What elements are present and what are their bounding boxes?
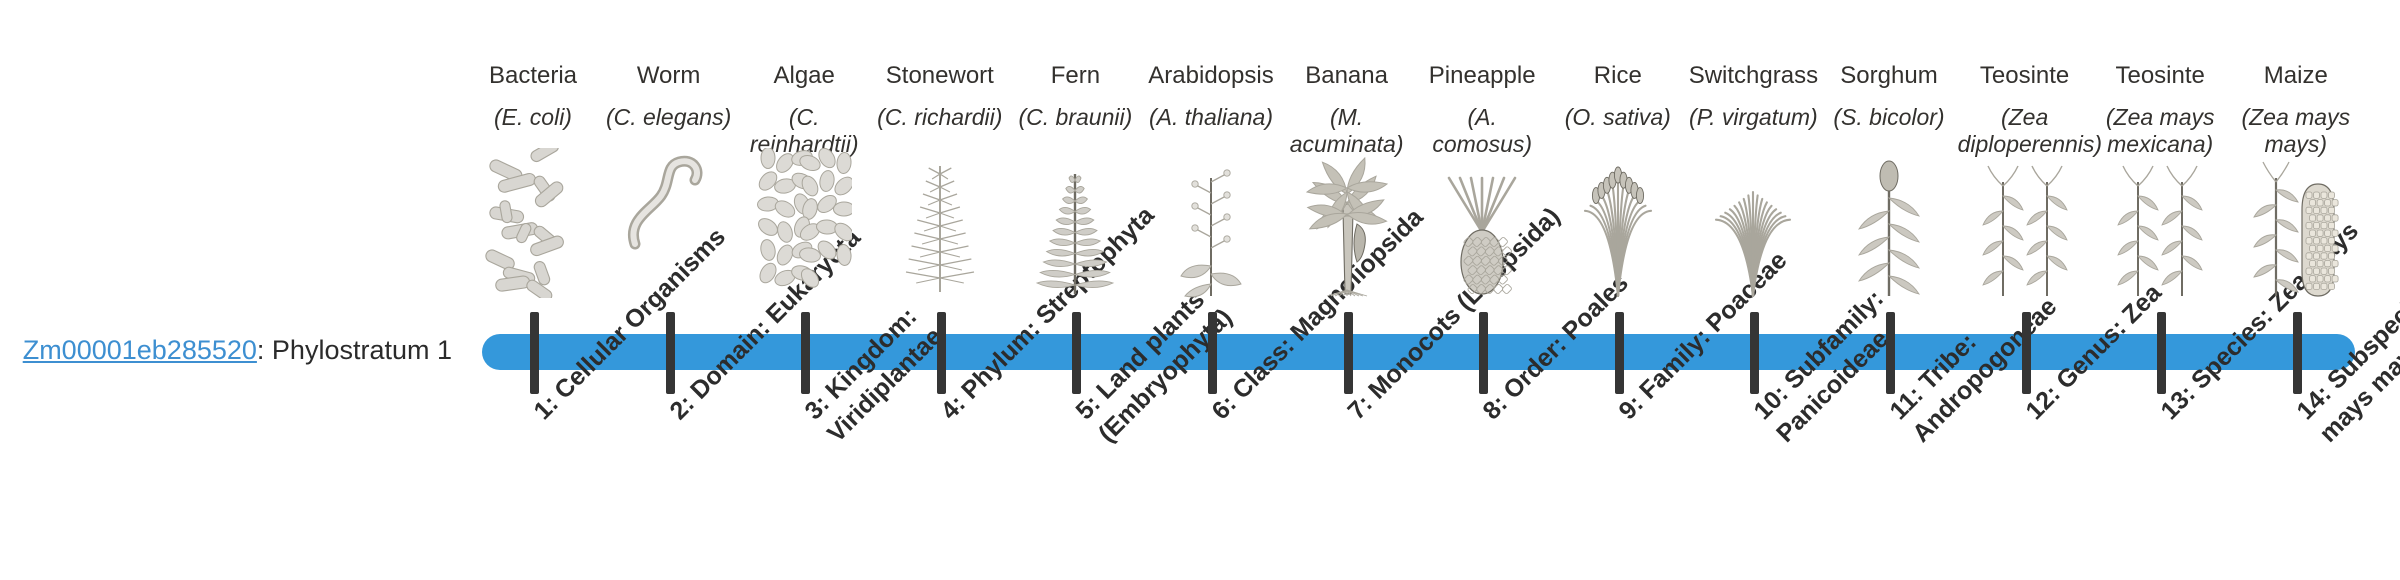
timeline-tick (1615, 312, 1624, 394)
species-common-name: Maize (2229, 62, 2363, 90)
species-scientific-name: (C. elegans) (602, 104, 736, 131)
timeline-tick (937, 312, 946, 394)
species-common-name: Switchgrass (1686, 62, 1820, 90)
timeline-tick (801, 312, 810, 394)
timeline-tick (1208, 312, 1217, 394)
species-common-name: Worm (602, 62, 736, 90)
timeline-tick (1750, 312, 1759, 394)
species-column: Sorghum(S. bicolor)11: Tribe: Andropogon… (1822, 0, 1956, 580)
species-column: Rice(O. sativa)9: Family: Poaceae (1551, 0, 1685, 580)
timeline-tick (666, 312, 675, 394)
species-column: Switchgrass(P. virgatum)10: Subfamily: P… (1686, 0, 1820, 580)
teosinte-plant-icon (1958, 158, 2092, 298)
timeline-tick (530, 312, 539, 394)
species-common-name: Arabidopsis (1144, 62, 1278, 90)
stonewort-alga-icon (873, 158, 1007, 298)
timeline-tick (1479, 312, 1488, 394)
species-column: Bacteria(E. coli)1: Cellular Organisms (466, 0, 600, 580)
banana-plant-icon (1280, 158, 1414, 298)
species-scientific-name: (O. sativa) (1551, 104, 1685, 131)
species-column: Stonewort(C. richardii)4: Phylum: Strept… (873, 0, 1007, 580)
maize-plant-ear-icon (2229, 158, 2363, 298)
gene-phylostratum-value: Phylostratum 1 (272, 335, 452, 365)
phylostratigraphy-figure: Zm00001eb285520: Phylostratum 1 Bacteria… (0, 0, 2400, 580)
species-column: Arabidopsis(A. thaliana)6: Class: Magnol… (1144, 0, 1278, 580)
sorghum-plant-icon (1822, 158, 1956, 298)
species-scientific-name: (C. braunii) (1008, 104, 1142, 131)
species-common-name: Stonewort (873, 62, 1007, 90)
bacteria-rods-icon (466, 158, 600, 298)
species-column: Banana(M. acuminata)7: Monocots (Liliops… (1280, 0, 1414, 580)
nematode-worm-icon (602, 158, 736, 298)
species-scientific-name: (E. coli) (466, 104, 600, 131)
species-scientific-name: (S. bicolor) (1822, 104, 1956, 131)
species-column: Worm(C. elegans)2: Domain: Eukaryota (602, 0, 736, 580)
arabidopsis-plant-icon (1144, 158, 1278, 298)
species-column: Algae(C. reinhardtii)3: Kingdom: Viridip… (737, 0, 871, 580)
green-algae-cells-icon (737, 158, 871, 298)
fern-frond-icon (1008, 158, 1142, 298)
species-common-name: Algae (737, 62, 871, 90)
timeline-tick (1344, 312, 1353, 394)
species-column: Teosinte(Zea mays mexicana)13: Species: … (2093, 0, 2227, 580)
species-common-name: Teosinte (2093, 62, 2227, 90)
species-common-name: Banana (1280, 62, 1414, 90)
species-common-name: Fern (1008, 62, 1142, 90)
timeline-tick (2157, 312, 2166, 394)
species-common-name: Sorghum (1822, 62, 1956, 90)
timeline-tick (2293, 312, 2302, 394)
switchgrass-plant-icon (1686, 158, 1820, 298)
rice-plant-icon (1551, 158, 1685, 298)
species-column: Teosinte(Zea diploperennis)12: Genus: Ze… (1958, 0, 2092, 580)
teosinte-mexicana-plant-icon (2093, 158, 2227, 298)
species-common-name: Teosinte (1958, 62, 2092, 90)
timeline-tick (1072, 312, 1081, 394)
species-scientific-name: (P. virgatum) (1686, 104, 1820, 131)
gene-phylostratum-label: Zm00001eb285520: Phylostratum 1 (0, 334, 452, 366)
species-column: Pineapple(A. comosus)8: Order: Poales (1415, 0, 1549, 580)
species-scientific-name: (C. richardii) (873, 104, 1007, 131)
species-common-name: Rice (1551, 62, 1685, 90)
species-common-name: Pineapple (1415, 62, 1549, 90)
gene-id-link[interactable]: Zm00001eb285520 (23, 335, 257, 365)
timeline-tick (1886, 312, 1895, 394)
species-column: Maize(Zea mays mays)14: Subspecies: Zea … (2229, 0, 2363, 580)
species-column: Fern(C. braunii)5: Land plants (Embryoph… (1008, 0, 1142, 580)
species-common-name: Bacteria (466, 62, 600, 90)
timeline-tick (2022, 312, 2031, 394)
gene-label-separator: : (257, 335, 272, 365)
species-scientific-name: (A. thaliana) (1144, 104, 1278, 131)
pineapple-plant-icon (1415, 158, 1549, 298)
